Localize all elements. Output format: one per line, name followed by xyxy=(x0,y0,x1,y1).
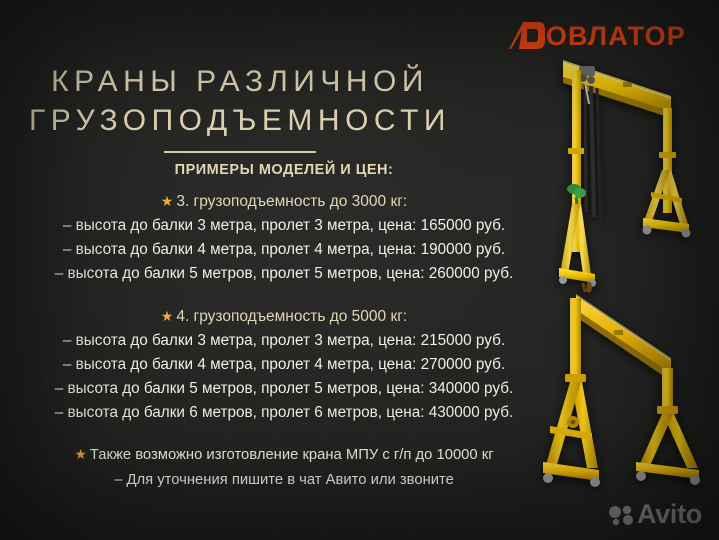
footer-line-2: – Для уточнения пишите в чат Авито или з… xyxy=(0,468,568,493)
spec-line: – высота до балки 4 метра, пролет 4 метр… xyxy=(0,238,568,262)
star-icon: ★ xyxy=(74,446,87,462)
title-line-1: КРАНЫ РАЗЛИЧНОЙ xyxy=(0,62,480,101)
star-icon: ★ xyxy=(161,308,174,324)
brand-logo: ОВЛАТОР xyxy=(509,16,686,56)
logo-d-mark xyxy=(509,18,545,54)
spec-line: – высота до балки 4 метра, пролет 4 метр… xyxy=(0,353,568,377)
crane-photo-top xyxy=(555,52,719,292)
content-body: ПРИМЕРЫ МОДЕЛЕЙ И ЦЕН: ★3. грузоподъемно… xyxy=(0,160,568,493)
avito-dots-icon xyxy=(608,503,634,527)
subtitle: ПРИМЕРЫ МОДЕЛЕЙ И ЦЕН: xyxy=(0,160,568,180)
block-2-heading: ★4. грузоподъемность до 5000 кг: xyxy=(0,304,568,329)
footer-line-1-text: Также возможно изготовление крана МПУ с … xyxy=(90,447,494,463)
title-underline xyxy=(164,151,316,153)
page-title: КРАНЫ РАЗЛИЧНОЙ ГРУЗОПОДЪЕМНОСТИ xyxy=(0,62,480,153)
spec-line: – высота до балки 3 метра, пролет 3 метр… xyxy=(0,214,568,238)
avito-wordmark: Avito xyxy=(637,501,702,528)
block-1-heading-text: 3. грузоподъемность до 3000 кг: xyxy=(176,193,407,210)
price-block-2: ★4. грузоподъемность до 5000 кг: – высот… xyxy=(0,304,568,425)
avito-watermark: Avito xyxy=(608,501,702,528)
block-1-heading: ★3. грузоподъемность до 3000 кг: xyxy=(0,189,568,214)
spec-line: – высота до балки 5 метров, пролет 5 мет… xyxy=(0,262,568,286)
block-2-heading-text: 4. грузоподъемность до 5000 кг: xyxy=(176,308,407,325)
spec-line: – высота до балки 3 метра, пролет 3 метр… xyxy=(0,329,568,353)
price-block-1: ★3. грузоподъемность до 3000 кг: – высот… xyxy=(0,189,568,286)
spec-line: – высота до балки 6 метров, пролет 6 мет… xyxy=(0,401,568,425)
star-icon: ★ xyxy=(161,193,174,209)
footer-note: ★Также возможно изготовление крана МПУ с… xyxy=(0,442,568,493)
title-line-2: ГРУЗОПОДЪЕМНОСТИ xyxy=(0,101,480,140)
footer-line-1: ★Также возможно изготовление крана МПУ с… xyxy=(0,442,568,468)
block-spacer xyxy=(0,288,568,304)
logo-wordmark: ОВЛАТОР xyxy=(546,23,686,50)
poster-canvas: ОВЛАТОР КРАНЫ РАЗЛИЧНОЙ ГРУЗОПОДЪЕМНОСТИ… xyxy=(0,0,719,540)
spec-line: – высота до балки 5 метров, пролет 5 мет… xyxy=(0,377,568,401)
